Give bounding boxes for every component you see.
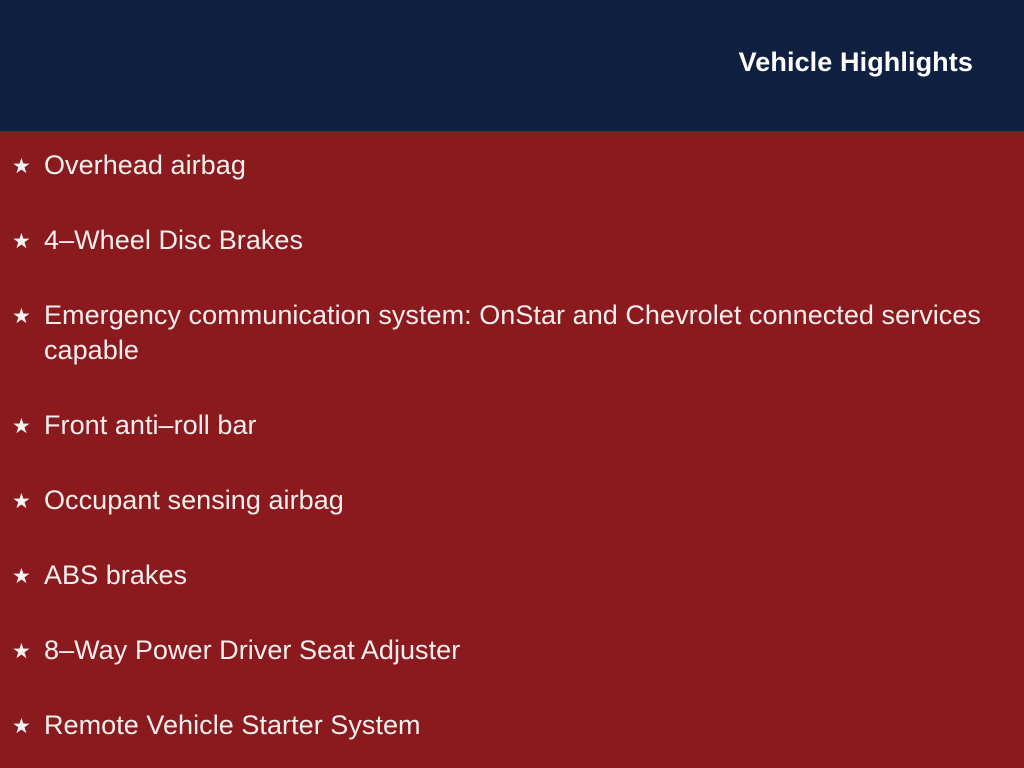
star-icon: ★ xyxy=(12,224,34,259)
list-item-label: Remote Vehicle Starter System xyxy=(44,708,1002,743)
star-icon: ★ xyxy=(12,634,34,669)
star-icon: ★ xyxy=(12,484,34,519)
star-icon: ★ xyxy=(12,299,34,334)
list-item: ★ ABS brakes xyxy=(12,558,1002,593)
list-item-label: 8–Way Power Driver Seat Adjuster xyxy=(44,633,1002,668)
list-item: ★ 8–Way Power Driver Seat Adjuster xyxy=(12,633,1002,668)
list-item: ★ Remote Vehicle Starter System xyxy=(12,708,1002,743)
list-item-label: Occupant sensing airbag xyxy=(44,483,1002,518)
list-item-label: Emergency communication system: OnStar a… xyxy=(44,298,992,368)
list-item: ★ Occupant sensing airbag xyxy=(12,483,1002,518)
star-icon: ★ xyxy=(12,149,34,184)
list-item-label: 4–Wheel Disc Brakes xyxy=(44,223,1002,258)
slide-canvas: Vehicle Highlights ★ Overhead airbag ★ 4… xyxy=(0,0,1024,768)
list-item-label: Front anti–roll bar xyxy=(44,408,1002,443)
list-item-label: ABS brakes xyxy=(44,558,1002,593)
star-icon: ★ xyxy=(12,709,34,744)
list-item-label: Overhead airbag xyxy=(44,148,1002,183)
star-icon: ★ xyxy=(12,559,34,594)
list-item: ★ Emergency communication system: OnStar… xyxy=(12,298,1002,368)
highlights-content-area: ★ Overhead airbag ★ 4–Wheel Disc Brakes … xyxy=(0,131,1024,768)
slide-header-band: Vehicle Highlights xyxy=(0,0,1024,131)
vehicle-highlights-list: ★ Overhead airbag ★ 4–Wheel Disc Brakes … xyxy=(12,148,1002,743)
page-title: Vehicle Highlights xyxy=(739,46,973,78)
star-icon: ★ xyxy=(12,409,34,444)
list-item: ★ Front anti–roll bar xyxy=(12,408,1002,443)
list-item: ★ Overhead airbag xyxy=(12,148,1002,183)
list-item: ★ 4–Wheel Disc Brakes xyxy=(12,223,1002,258)
